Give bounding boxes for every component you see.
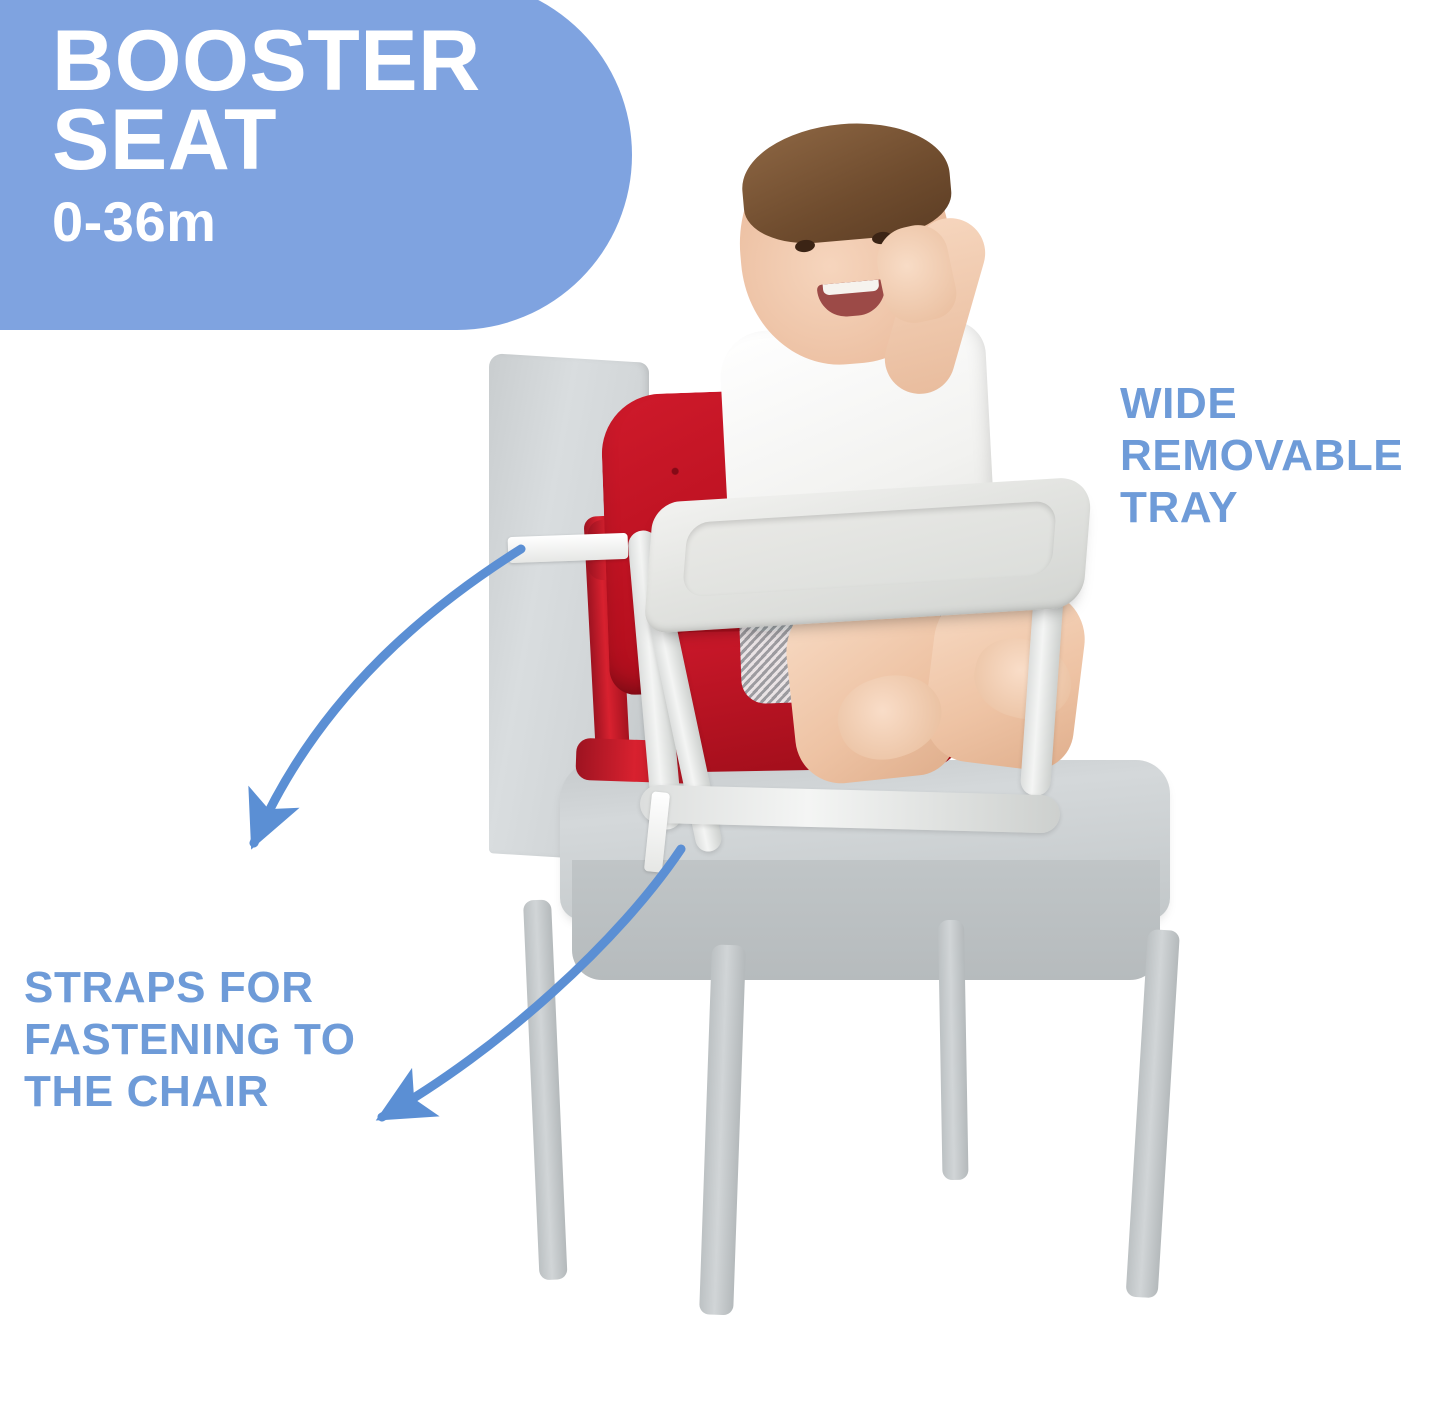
- grey-chair-leg-back-middle: [938, 920, 969, 1180]
- grey-chair-leg-front-right: [699, 944, 746, 1315]
- tray-well: [682, 500, 1057, 597]
- grey-chair-apron: [572, 860, 1160, 980]
- callout-straps-for-fastening: STRAPS FOR FASTENING TO THE CHAIR: [24, 962, 356, 1118]
- product-feature-image: BOOSTER SEAT 0-36m WIDE REMOVABLE TRAY S…: [0, 0, 1451, 1426]
- badge-title: BOOSTER SEAT: [52, 22, 632, 180]
- removable-tray: [643, 476, 1092, 634]
- badge-age-range: 0-36m: [52, 194, 632, 250]
- booster-seat-badge: BOOSTER SEAT 0-36m: [0, 0, 632, 330]
- callout-wide-removable-tray: WIDE REMOVABLE TRAY: [1120, 378, 1403, 534]
- grey-chair-leg-front-left: [523, 899, 568, 1280]
- backrest-fastening-strap: [508, 533, 629, 563]
- grey-chair-leg-back-right: [1126, 929, 1180, 1298]
